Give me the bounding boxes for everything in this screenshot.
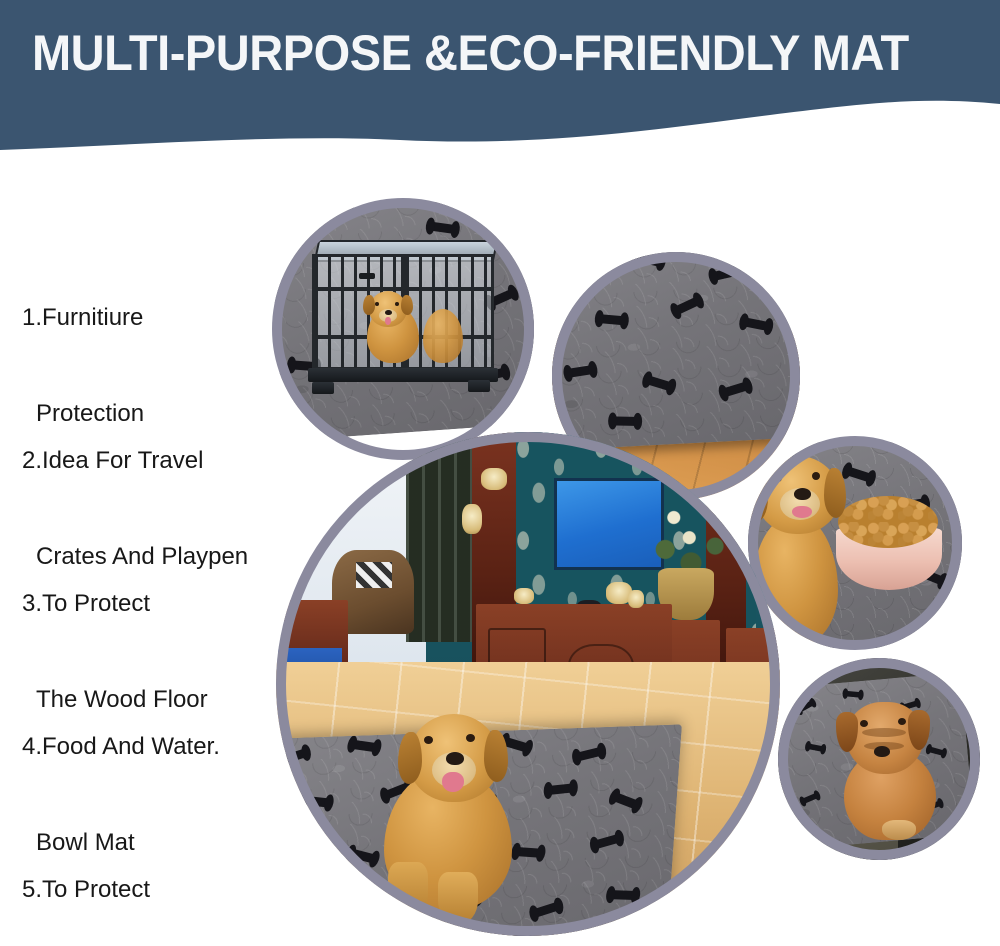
infographic-page: MULTI-PURPOSE &ECO-FRIENDLY MAT 1.Furnit… (0, 0, 1000, 946)
feature-5-line1: 5.To Protect (22, 874, 292, 906)
bowl-dog-nose (794, 488, 811, 500)
header-banner: MULTI-PURPOSE &ECO-FRIENDLY MAT (0, 0, 1000, 150)
living-room-scene (276, 432, 780, 936)
food-bowl-scene (748, 436, 962, 650)
bone-print (845, 691, 862, 698)
living-room-dog-eye (424, 736, 433, 744)
mat-on-wood (552, 252, 800, 450)
living-room-dog-leg (438, 872, 478, 924)
crate-dog-eye (375, 302, 379, 306)
crate-latch (359, 273, 375, 279)
bone-print (610, 890, 637, 900)
living-room-flowers (648, 494, 734, 578)
bowl-dog-tongue (792, 506, 812, 518)
car-seat-scene (778, 658, 980, 860)
puppy-eye (898, 718, 906, 725)
living-room-dog-nose (446, 752, 464, 765)
armchair-cushion (356, 562, 392, 588)
crate-dog-ear (363, 295, 375, 315)
mat-quilting (552, 252, 800, 450)
crate-foot (468, 380, 490, 392)
feature-1-line1: 1.Furnitiure (22, 302, 292, 334)
crate-scene (272, 198, 534, 460)
bone-print (515, 847, 542, 858)
living-room-dog-tongue (442, 772, 464, 792)
console-drawer (488, 628, 546, 666)
bone-print (612, 416, 638, 425)
crate-dog-second (423, 309, 463, 363)
puppy-wrinkle (862, 728, 906, 737)
console-ornament (628, 590, 644, 608)
bubble-crate-photo (272, 198, 534, 460)
crate-cage (312, 254, 494, 370)
bubble-food-bowl-photo (748, 436, 962, 650)
mat-surface (552, 252, 800, 450)
crate-dog-tongue (385, 317, 391, 325)
living-room-dog-eye (466, 734, 475, 742)
bubble-living-room-photo (276, 432, 780, 936)
bone-print (567, 365, 594, 378)
crate-dog-ear (401, 295, 413, 315)
crate-dog-eye (395, 302, 399, 306)
puppy-paw (882, 820, 916, 840)
feature-item-5: 5.To Protect The Car Seat (22, 810, 292, 946)
feature-3-line1: 3.To Protect (22, 588, 292, 620)
crate-rail (315, 287, 491, 291)
puppy-nose (874, 746, 890, 757)
living-room-table-lamp (462, 504, 482, 534)
puppy-eye (860, 720, 868, 727)
bowl-dog-eye (812, 472, 820, 480)
living-room-dog-ear (398, 732, 422, 784)
living-room-dog-leg (388, 862, 428, 920)
bone-print (548, 783, 574, 795)
page-title: MULTI-PURPOSE &ECO-FRIENDLY MAT (32, 24, 925, 82)
bubble-car-seat-photo (778, 658, 980, 860)
living-room-sconce (481, 468, 507, 490)
crate-foot (312, 382, 334, 394)
bone-print (598, 314, 625, 325)
bowl-kibble (838, 496, 938, 548)
crate-dog-nose (385, 310, 392, 315)
feature-4-line1: 4.Food And Water. (22, 731, 292, 763)
console-ornament (514, 588, 534, 604)
feature-2-line1: 2.Idea For Travel (22, 445, 292, 477)
living-room-curtain (406, 432, 472, 642)
